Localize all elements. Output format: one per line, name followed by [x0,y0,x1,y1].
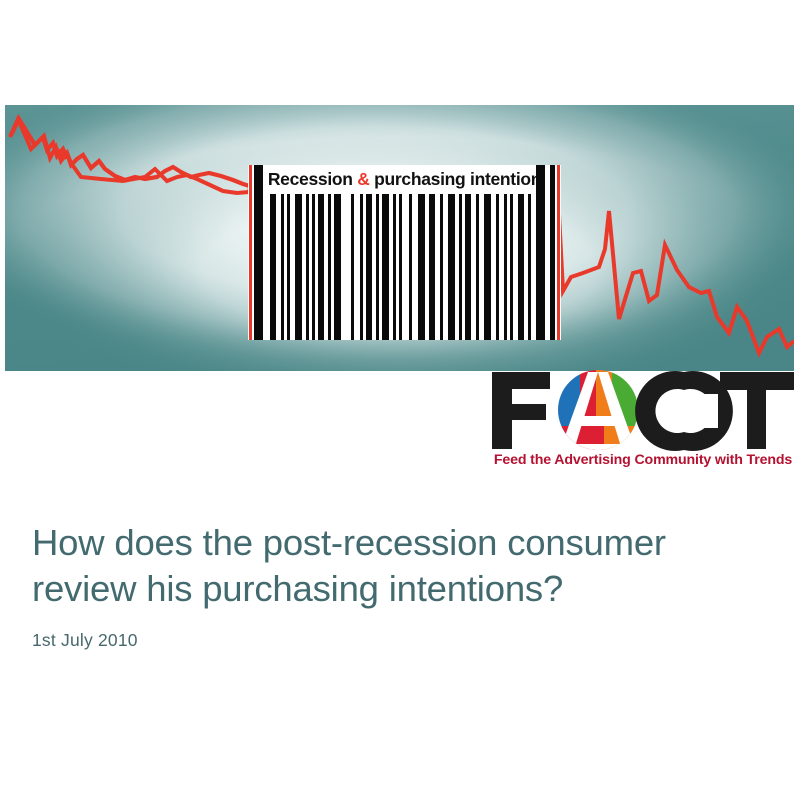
page-title-line-1: How does the post-recession consumer [32,520,762,566]
barcode-bars [248,194,561,340]
slide-root: Recession & purchasing intention [0,0,800,800]
logo-letter-c [635,371,733,451]
presentation-date: 1st July 2010 [32,612,762,651]
fact-logo: Feed the Advertising Community with Tren… [488,368,798,480]
title-block: How does the post-recession consumer rev… [32,520,762,651]
barcode-title-ampersand: & [357,169,369,189]
logo-letter-f [492,372,550,449]
page-title: How does the post-recession consumer rev… [32,520,762,612]
page-title-line-2: review his purchasing intentions? [32,566,762,612]
fact-logo-tagline: Feed the Advertising Community with Tren… [488,452,798,468]
barcode-redline-right [557,165,560,340]
barcode-title-suffix: purchasing intention [370,169,542,189]
recession-banner-image: Recession & purchasing intention [5,105,794,371]
barcode-title: Recession & purchasing intention [248,169,561,190]
barcode-redline-left [249,165,252,340]
barcode-title-prefix: Recession [268,169,357,189]
logo-letter-a [556,370,640,452]
barcode-panel: Recession & purchasing intention [248,165,561,340]
fact-logo-mark [488,368,798,452]
